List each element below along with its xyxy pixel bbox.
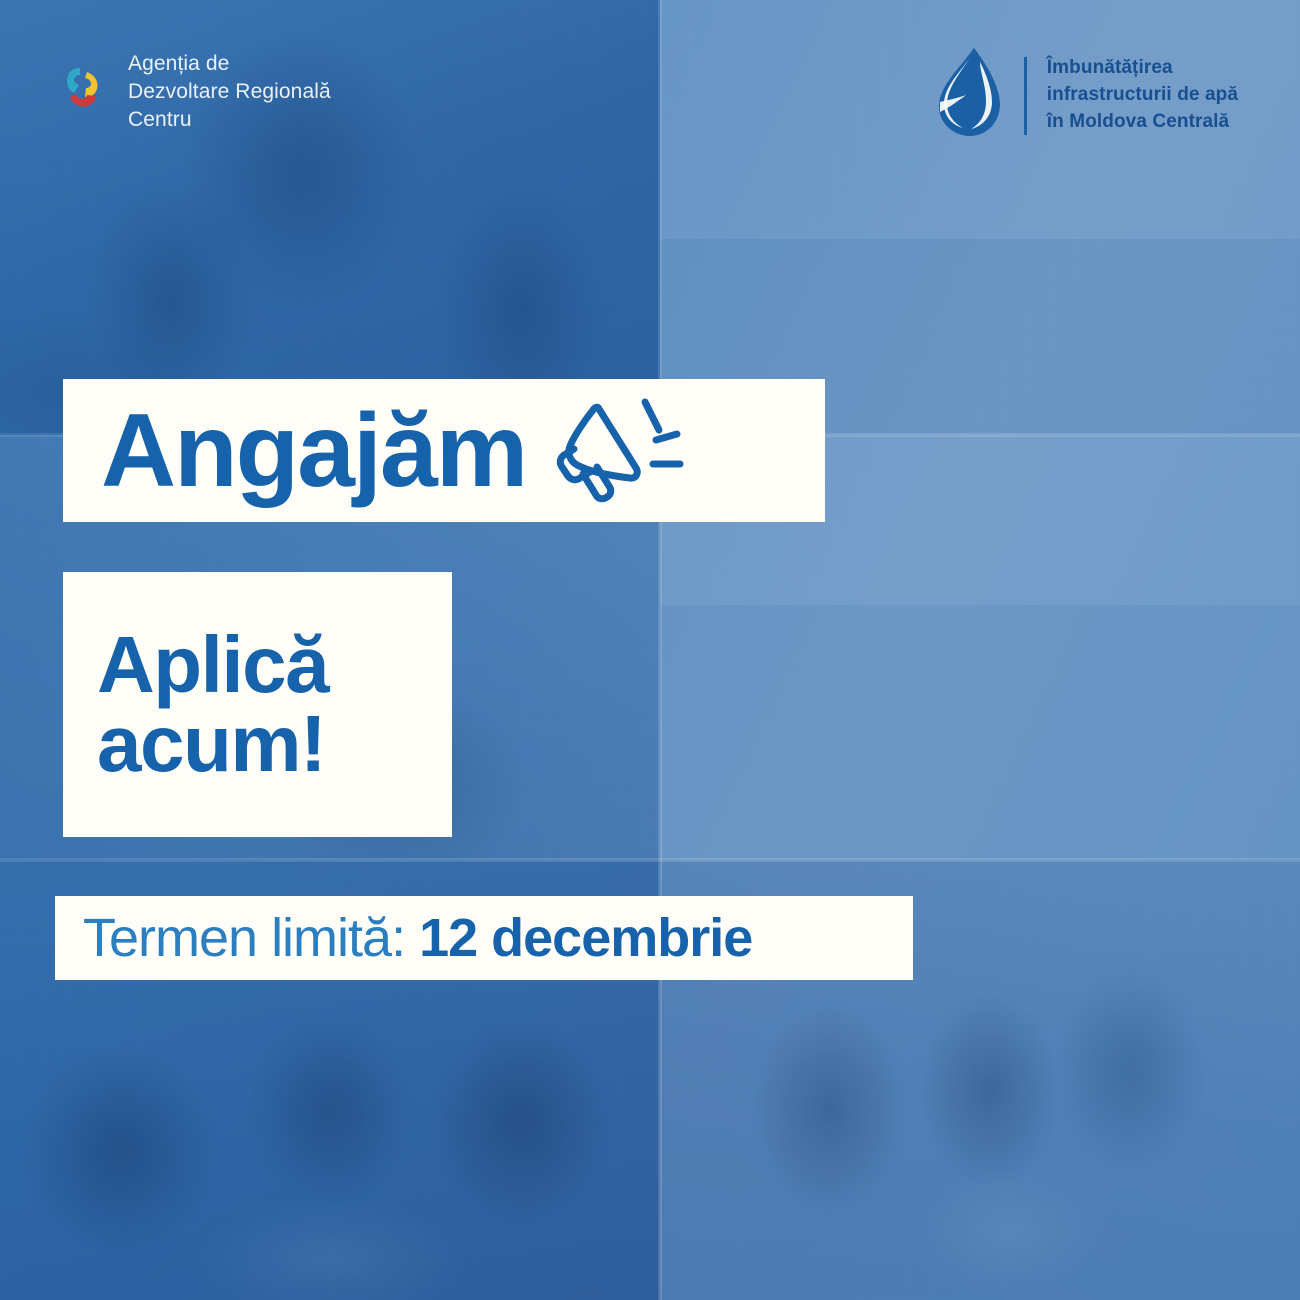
deadline-banner: Termen limită: 12 decembrie [55, 896, 913, 980]
water-project-logo: Îmbunătățirea infrastructurii de apă în … [930, 46, 1238, 145]
megaphone-icon [552, 392, 684, 509]
apply-banner: Aplică acum! [63, 572, 452, 837]
recruitment-poster: Agenția de Dezvoltare Regională Centru Î… [0, 0, 1300, 1300]
adr-logo-text: Agenția de Dezvoltare Regională Centru [128, 50, 331, 134]
adr-pinwheel-logo-icon [56, 61, 112, 122]
apply-headline: Aplică acum! [97, 626, 328, 783]
deadline-date: 12 decembrie [419, 907, 752, 969]
deadline-label: Termen limită: [83, 907, 405, 969]
hiring-banner: Angajăm [63, 379, 825, 522]
hiring-headline: Angajăm [101, 399, 526, 503]
adr-logo: Agenția de Dezvoltare Regională Centru [56, 50, 331, 134]
water-project-text: Îmbunătățirea infrastructurii de apă în … [1047, 55, 1238, 136]
logo-divider [1024, 57, 1027, 135]
water-drop-logo-icon [930, 46, 1004, 145]
